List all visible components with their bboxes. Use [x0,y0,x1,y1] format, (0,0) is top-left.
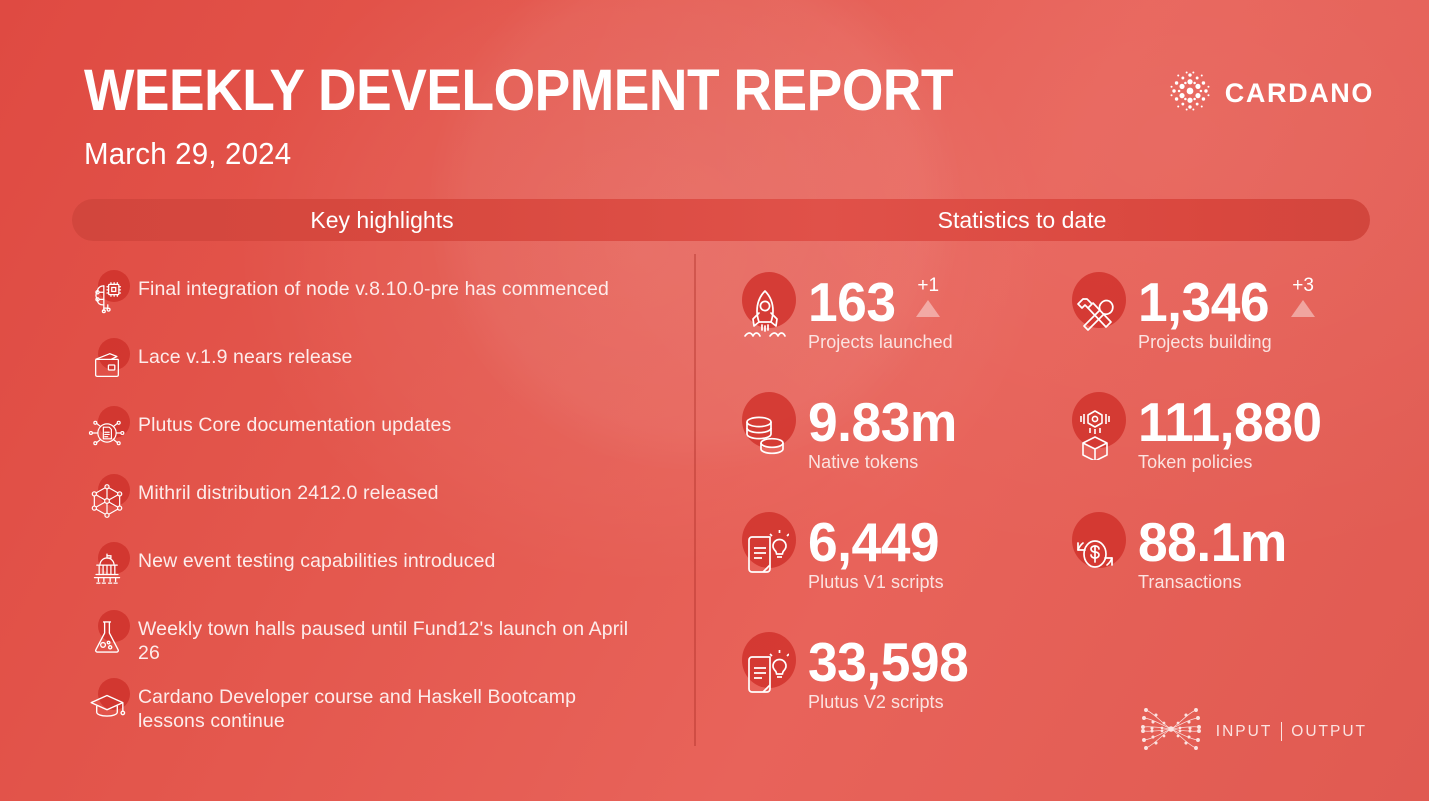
key-highlights-list: Final integration of node v.8.10.0-pre h… [76,268,676,744]
wallet-icon [76,336,138,394]
stat-value: 1,346 [1138,274,1269,330]
statistics-row: 6,449 Plutus V1 scripts [722,508,1382,628]
arrow-up-icon [1291,300,1315,317]
stat-delta-value: +3 [1286,276,1320,296]
script-bulb-icon [722,508,808,600]
cardano-wordmark: CARDANO [1225,78,1374,109]
list-item-label: Final integration of node v.8.10.0-pre h… [138,268,609,301]
statistics-row: 163 +1 Projects launched [722,268,1382,388]
stat-projects-launched: 163 +1 Projects launched [722,268,1052,388]
stat-value: 163 [808,274,896,330]
stat-label: Token policies [1138,452,1327,473]
list-item: New event testing capabilities introduce… [76,540,676,598]
input-output-wordmark: INPUT OUTPUT [1216,722,1367,741]
coin-stack-icon [722,388,808,480]
stat-projects-building: 1,346 +3 Projects building [1052,268,1382,388]
list-item: Plutus Core documentation updates [76,404,676,462]
list-item-label: Lace v.1.9 nears release [138,336,353,369]
rocket-icon [722,268,808,360]
token-policy-icon [1052,388,1138,480]
stat-value: 9.83m [808,394,957,450]
page-title: WEEKLY DEVELOPMENT REPORT [84,62,953,120]
stat-label: Transactions [1138,572,1291,593]
flask-icon [76,608,138,666]
stat-label: Projects building [1138,332,1320,353]
list-item-label: New event testing capabilities introduce… [138,540,495,573]
stat-label: Plutus V1 scripts [808,572,944,593]
header-block: WEEKLY DEVELOPMENT REPORT March 29, 2024 [84,62,1029,172]
list-item: Lace v.1.9 nears release [76,336,676,394]
statistics-row: 9.83m Native tokens [722,388,1382,508]
report-date: March 29, 2024 [84,136,981,172]
stat-delta-value: +1 [911,276,945,296]
stat-transactions: 88.1m Transactions [1052,508,1382,628]
stat-token-policies: 111,880 Token policies [1052,388,1382,508]
input-output-butterfly-icon [1138,704,1204,759]
cardano-dot-logo-icon [1169,70,1211,117]
section-header-bar: Key highlights Statistics to date [72,199,1370,241]
stat-delta: +3 [1286,276,1320,317]
column-divider [694,254,696,746]
stat-label: Native tokens [808,452,961,473]
input-output-logo: INPUT OUTPUT [1138,704,1367,759]
transaction-dollar-icon [1052,508,1138,600]
stat-delta: +1 [911,276,945,317]
list-item-label: Cardano Developer course and Haskell Boo… [138,676,648,733]
brain-chip-icon [76,268,138,326]
stat-label: Projects launched [808,332,953,353]
section-header-statistics: Statistics to date [712,199,1332,241]
stat-value: 88.1m [1138,514,1287,570]
stat-label: Plutus V2 scripts [808,692,973,713]
list-item-label: Plutus Core documentation updates [138,404,451,437]
network-cube-icon [76,472,138,530]
script-bulb-icon [722,628,808,720]
stat-plutus-v1-scripts: 6,449 Plutus V1 scripts [722,508,1052,628]
arrow-up-icon [916,300,940,317]
list-item-label: Weekly town halls paused until Fund12's … [138,608,648,665]
document-node-icon [76,404,138,462]
list-item-label: Mithril distribution 2412.0 released [138,472,439,505]
list-item: Mithril distribution 2412.0 released [76,472,676,530]
section-header-key-highlights: Key highlights [72,199,692,241]
stat-value: 6,449 [808,514,939,570]
list-item: Final integration of node v.8.10.0-pre h… [76,268,676,326]
list-item: Weekly town halls paused until Fund12's … [76,608,676,666]
graduation-cap-icon [76,676,138,734]
stat-plutus-v2-scripts: 33,598 Plutus V2 scripts [722,628,1052,748]
divider-bar [1281,722,1282,741]
input-label: INPUT [1216,723,1273,741]
hammer-tools-icon [1052,268,1138,360]
cardano-logo: CARDANO [1169,70,1374,117]
stat-value: 111,880 [1138,394,1322,450]
statistics-grid: 163 +1 Projects launched [722,268,1382,748]
output-label: OUTPUT [1291,723,1367,741]
stat-value: 33,598 [808,634,968,690]
government-building-icon [76,540,138,598]
stat-native-tokens: 9.83m Native tokens [722,388,1052,508]
list-item: Cardano Developer course and Haskell Boo… [76,676,676,734]
weekly-development-report-slide: WEEKLY DEVELOPMENT REPORT March 29, 2024 [0,0,1429,801]
